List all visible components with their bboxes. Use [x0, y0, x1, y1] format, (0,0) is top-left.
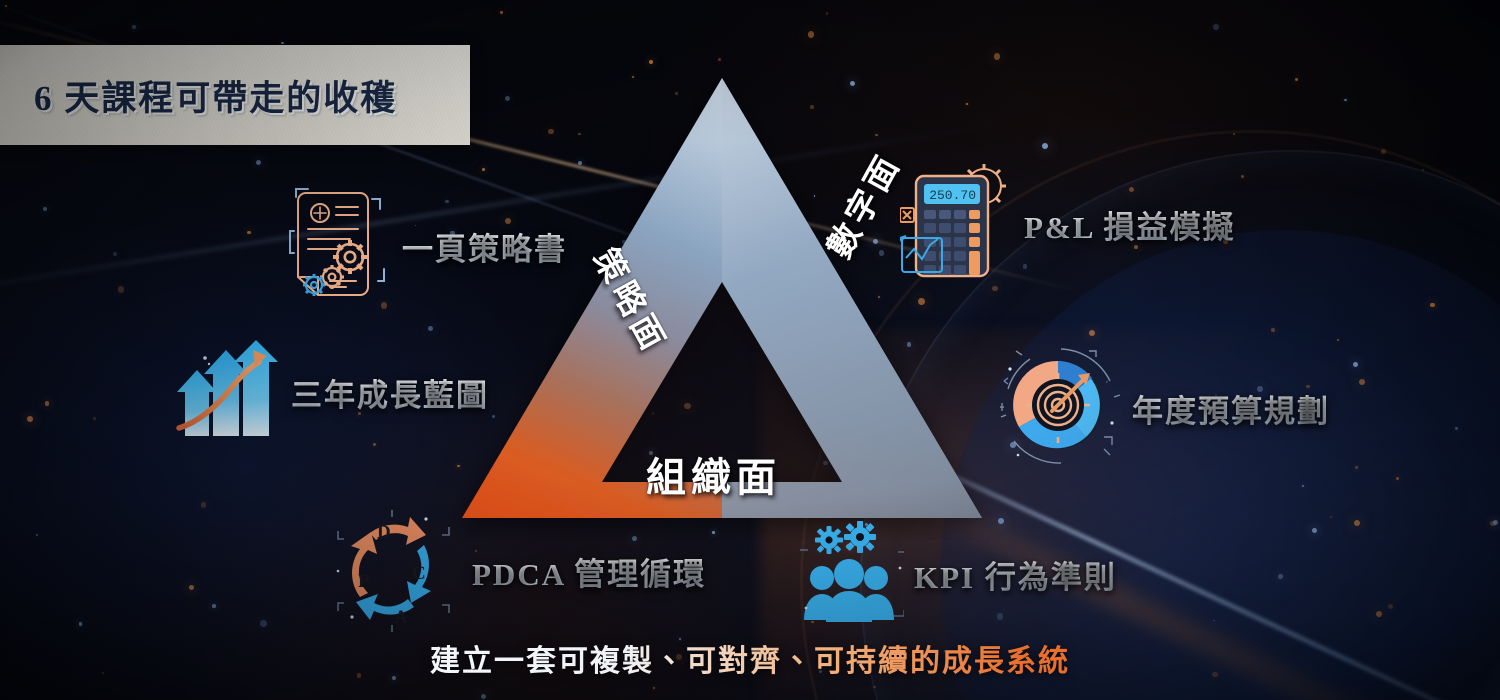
tagline: 建立一套可複製、可對齊、可持續的成長系統	[0, 636, 1500, 680]
infographic-canvas: 6 天課程可帶走的收穫	[0, 0, 1500, 700]
vignette	[0, 0, 1500, 700]
tagline-text: 建立一套可複製、可對齊、可持續的成長系統	[430, 645, 1070, 678]
